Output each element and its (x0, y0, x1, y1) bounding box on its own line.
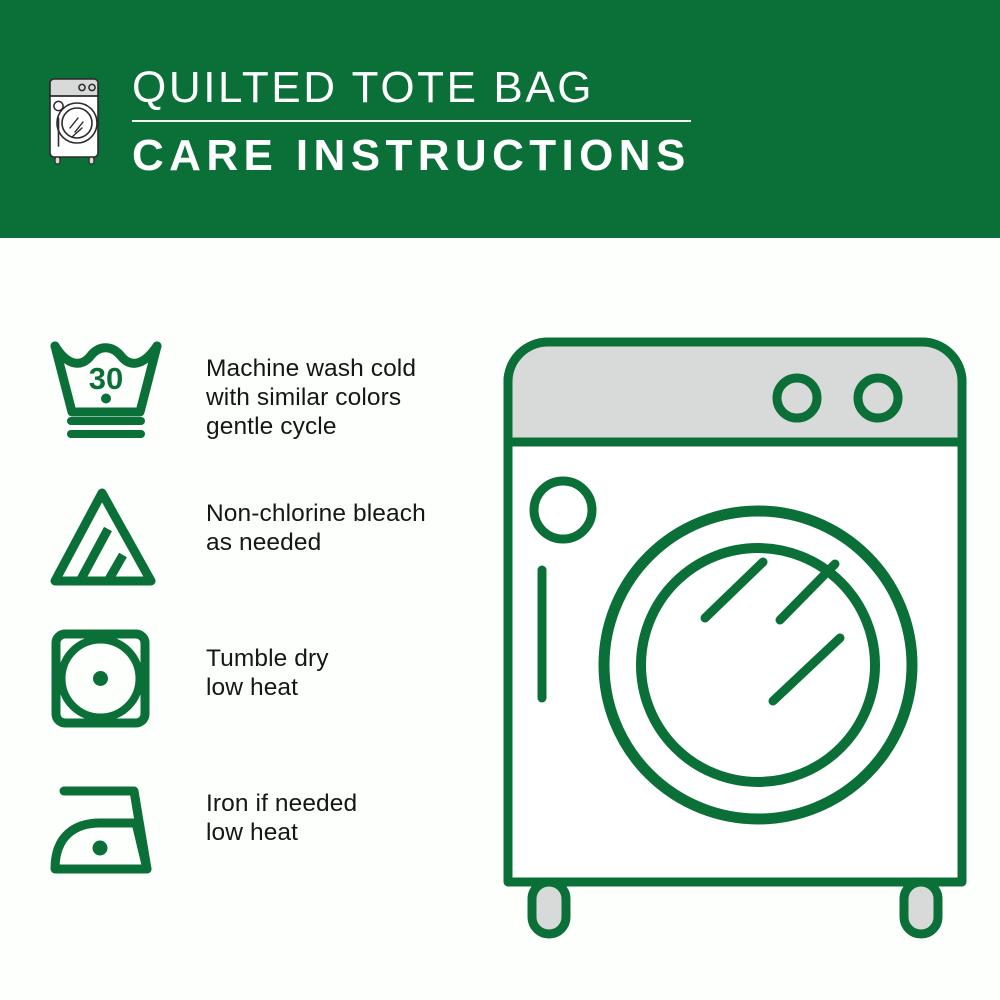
washing-machine-illustration (495, 330, 975, 940)
tumble-dry-icon (50, 622, 162, 732)
care-line: Iron if needed (206, 789, 357, 818)
machine-leg (904, 882, 938, 934)
iron-icon (50, 767, 162, 881)
care-row-bleach: Non-chlorine bleach as needed (50, 477, 480, 622)
washing-machine-icon (44, 68, 106, 166)
care-text-iron: Iron if needed low heat (206, 767, 357, 847)
care-line: with similar colors (206, 383, 416, 412)
care-text-bleach: Non-chlorine bleach as needed (206, 477, 426, 557)
care-instruction-list: 30 Machine wash cold with similar colors… (50, 332, 480, 912)
title-divider (132, 120, 691, 122)
header-banner: QUILTED TOTE BAG CARE INSTRUCTIONS (0, 0, 1000, 238)
wash-tub-icon: 30 (50, 332, 162, 440)
care-line: Non-chlorine bleach (206, 499, 426, 528)
bleach-triangle-icon (50, 477, 162, 591)
care-row-tumble-dry: Tumble dry low heat (50, 622, 480, 767)
product-title: QUILTED TOTE BAG (132, 62, 691, 114)
care-row-wash: 30 Machine wash cold with similar colors… (50, 332, 480, 477)
care-text-tumble-dry: Tumble dry low heat (206, 622, 329, 702)
page-title: CARE INSTRUCTIONS (132, 130, 691, 182)
header-title-block: QUILTED TOTE BAG CARE INSTRUCTIONS (132, 62, 691, 182)
care-line: low heat (206, 673, 329, 702)
care-line: as needed (206, 528, 426, 557)
care-line: gentle cycle (206, 412, 416, 441)
wash-temperature-value: 30 (89, 361, 123, 396)
machine-leg (532, 882, 566, 934)
care-line: Tumble dry (206, 644, 329, 673)
care-row-iron: Iron if needed low heat (50, 767, 480, 912)
care-line: low heat (206, 818, 357, 847)
header-content: QUILTED TOTE BAG CARE INSTRUCTIONS (44, 62, 691, 182)
care-text-wash: Machine wash cold with similar colors ge… (206, 332, 416, 441)
care-line: Machine wash cold (206, 354, 416, 383)
